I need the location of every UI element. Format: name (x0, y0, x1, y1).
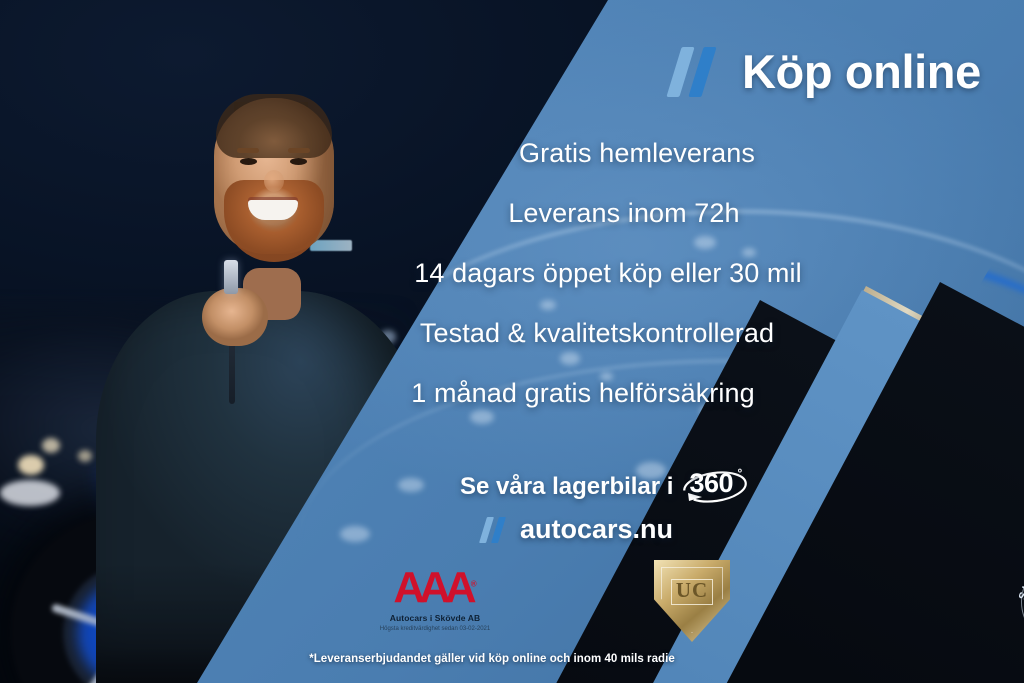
cta-domain-row[interactable]: autocars.nu (482, 514, 790, 545)
benefit-item: Leverans inom 72h (224, 198, 1024, 229)
double-slash-logo-icon (672, 47, 728, 97)
benefit-item: 14 dagars öppet köp eller 30 mil (192, 258, 1024, 289)
aaa-credit-rating-logo: AAA® Autocars i Skövde AB Högsta kreditv… (360, 566, 510, 633)
360-number: 360 (689, 468, 733, 499)
aaa-subtitle: Högsta kreditvärdighet sedan 03-02-2021 (360, 625, 510, 633)
headline-block: Köp online (672, 44, 981, 99)
badge-caption: dun & bradstreet (1013, 642, 1024, 648)
registered-trademark-icon: ® (471, 579, 477, 588)
cta-block[interactable]: Se våra lagerbilar i 360 ° autocars.nu (460, 466, 790, 545)
website-url[interactable]: autocars.nu (520, 514, 673, 545)
benefit-item: Testad & kvalitetskontrollerad (170, 318, 1024, 349)
360-view-icon: 360 ° (682, 466, 748, 508)
aaa-mark: AAA® (360, 566, 510, 610)
page-title: Köp online (742, 44, 981, 99)
award-logos: AAA® Autocars i Skövde AB Högsta kreditv… (352, 552, 772, 648)
banner-content: Köp online Gratis hemleverans Leverans i… (0, 0, 1024, 683)
aaa-company-name: Autocars i Skövde AB (360, 613, 510, 623)
uc-shield-logo: UC (648, 558, 736, 646)
disclaimer-text: *Leveranserbjudandet gäller vid köp onli… (0, 653, 1004, 665)
badge-arc-text: SUPERFÖRETAG (1017, 558, 1024, 601)
cta-headline: Se våra lagerbilar i 360 ° (460, 466, 790, 508)
degree-symbol: ° (737, 466, 742, 480)
benefits-list: Gratis hemleverans Leverans inom 72h 14 … (0, 138, 1024, 409)
benefit-item: Gratis hemleverans (250, 138, 1024, 169)
cta-lead-text: Se våra lagerbilar i (460, 473, 673, 501)
benefit-item: 1 månad gratis helförsäkring (142, 378, 1024, 409)
svg-text:SUPERFÖRETAG: SUPERFÖRETAG (1017, 558, 1024, 601)
uc-letters: UC (648, 578, 736, 603)
double-slash-logo-icon (482, 517, 512, 543)
promo-banner: Köp online Gratis hemleverans Leverans i… (0, 0, 1024, 683)
